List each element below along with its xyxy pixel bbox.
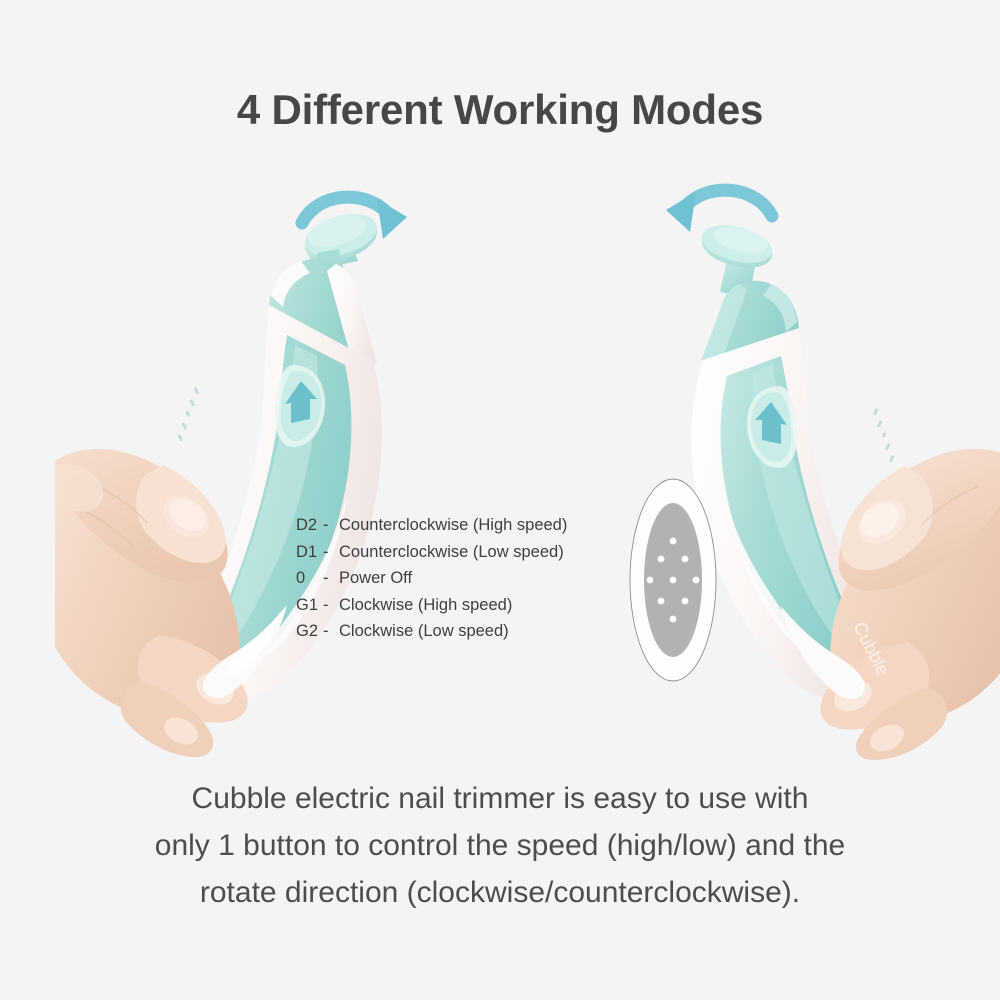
mode-code: D1 [296,539,323,566]
mode-legend: D2-Counterclockwise (High speed) D1-Coun… [296,512,567,645]
mode-dash: - [323,592,339,619]
mode-description: Power Off [339,569,412,587]
mode-dash: - [323,565,339,592]
mode-markings [177,387,199,442]
mode-dash: - [323,618,339,645]
mode-row: G1-Clockwise (High speed) [296,592,567,619]
mode-description: Clockwise (High speed) [339,596,512,614]
mode-dash: - [323,539,339,566]
hand-holding-device [820,449,1000,760]
mode-description: Counterclockwise (High speed) [339,516,567,534]
page-title: 4 Different Working Modes [0,86,1000,134]
sanding-disc-attachment [628,477,718,683]
mode-row: D2-Counterclockwise (High speed) [296,512,567,539]
mode-description: Counterclockwise (Low speed) [339,543,564,561]
mode-row: G2-Clockwise (Low speed) [296,618,567,645]
mode-markings [873,408,895,463]
mode-code: D2 [296,512,323,539]
caption-line-3: rotate direction (clockwise/counterclock… [60,869,940,916]
mode-description: Clockwise (Low speed) [339,622,509,640]
mode-code: 0 [296,565,323,592]
mode-code: G1 [296,592,323,619]
hand-holding-device [55,449,248,757]
product-caption: Cubble electric nail trimmer is easy to … [60,775,940,916]
mode-code: G2 [296,618,323,645]
mode-row: D1-Counterclockwise (Low speed) [296,539,567,566]
left-product-photo: Cubble [55,165,455,740]
mode-dash: - [323,512,339,539]
caption-line-2: only 1 button to control the speed (high… [60,822,940,869]
mode-row: 0-Power Off [296,565,567,592]
caption-line-1: Cubble electric nail trimmer is easy to … [60,775,940,822]
product-feature-image: 4 Different Working Modes [0,0,1000,1000]
